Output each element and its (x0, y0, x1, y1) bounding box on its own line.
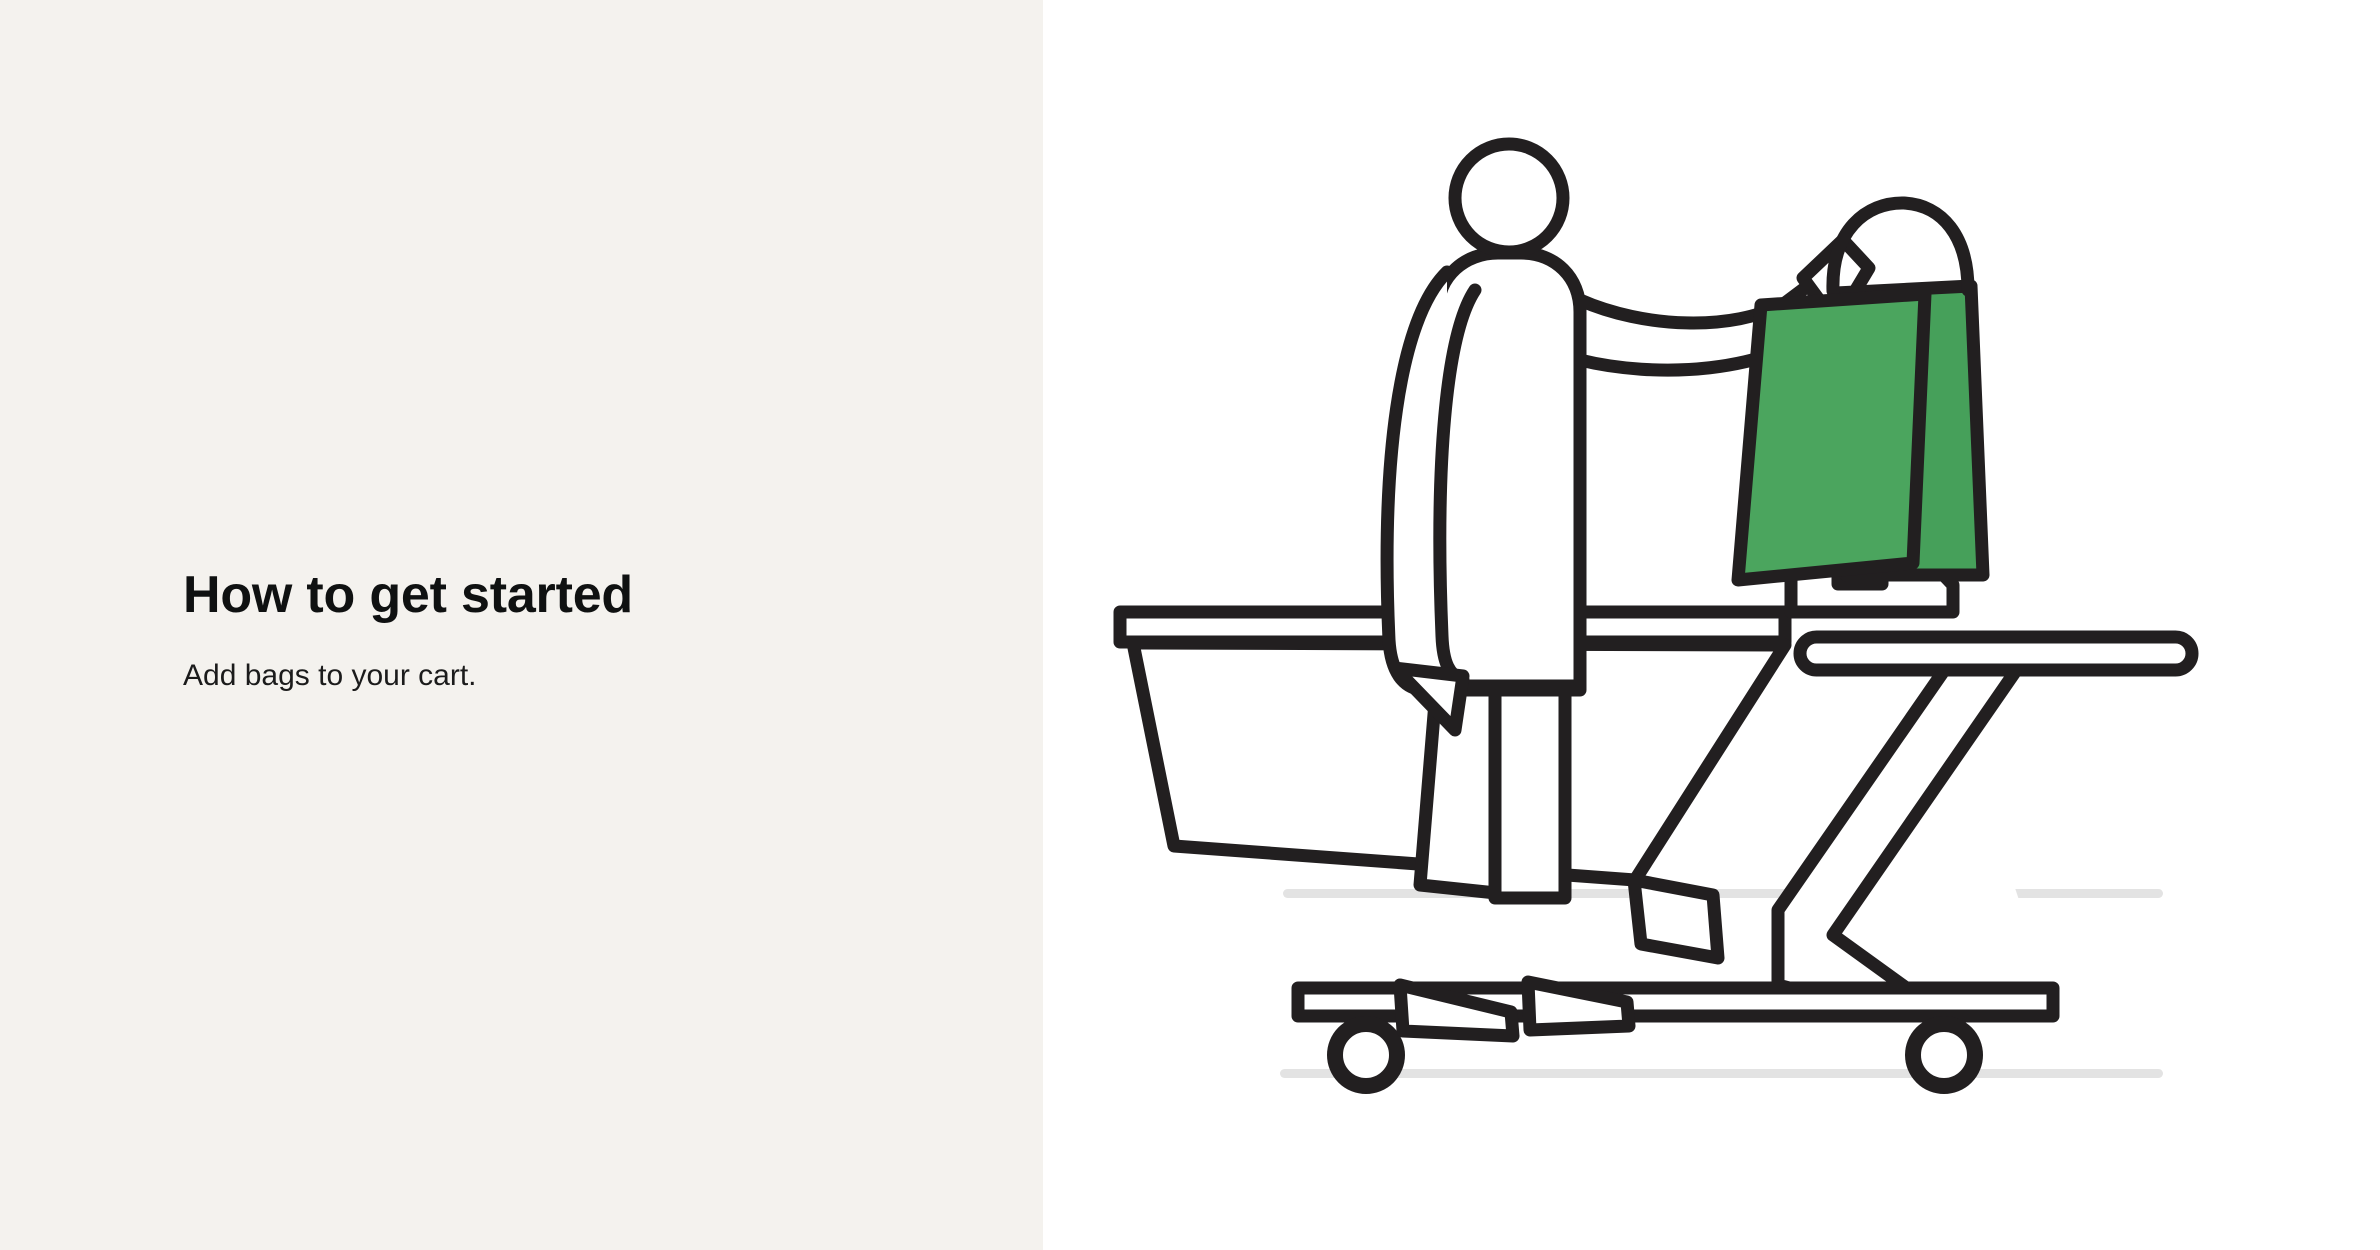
onboarding-screen: How to get started Add bags to your cart… (0, 0, 2380, 1250)
page-subtitle: Add bags to your cart. (183, 626, 943, 695)
figure-head (1455, 144, 1563, 252)
figure-leg-front (1495, 688, 1565, 898)
illustration-panel (1043, 0, 2380, 1250)
text-block: How to get started Add bags to your cart… (183, 566, 943, 695)
cart-wheel-rear-icon (1913, 1024, 1975, 1086)
cart-wheel-front-icon (1335, 1024, 1397, 1086)
ground-line-lower-icon (1280, 1069, 2163, 1078)
cart-handle-bar (1800, 637, 2192, 670)
shopping-bag-front (1738, 294, 1925, 580)
shopping-cart-icon (1120, 506, 2192, 1086)
page-title: How to get started (183, 566, 943, 626)
info-panel: How to get started Add bags to your cart… (0, 0, 1043, 1250)
ground-line-upper-icon (1283, 889, 2163, 898)
cart-foot-brace (1634, 880, 1718, 958)
cart-rear-leg-frame (1778, 672, 2053, 1002)
shopper-adding-bags-to-cart-icon (1043, 0, 2380, 1250)
